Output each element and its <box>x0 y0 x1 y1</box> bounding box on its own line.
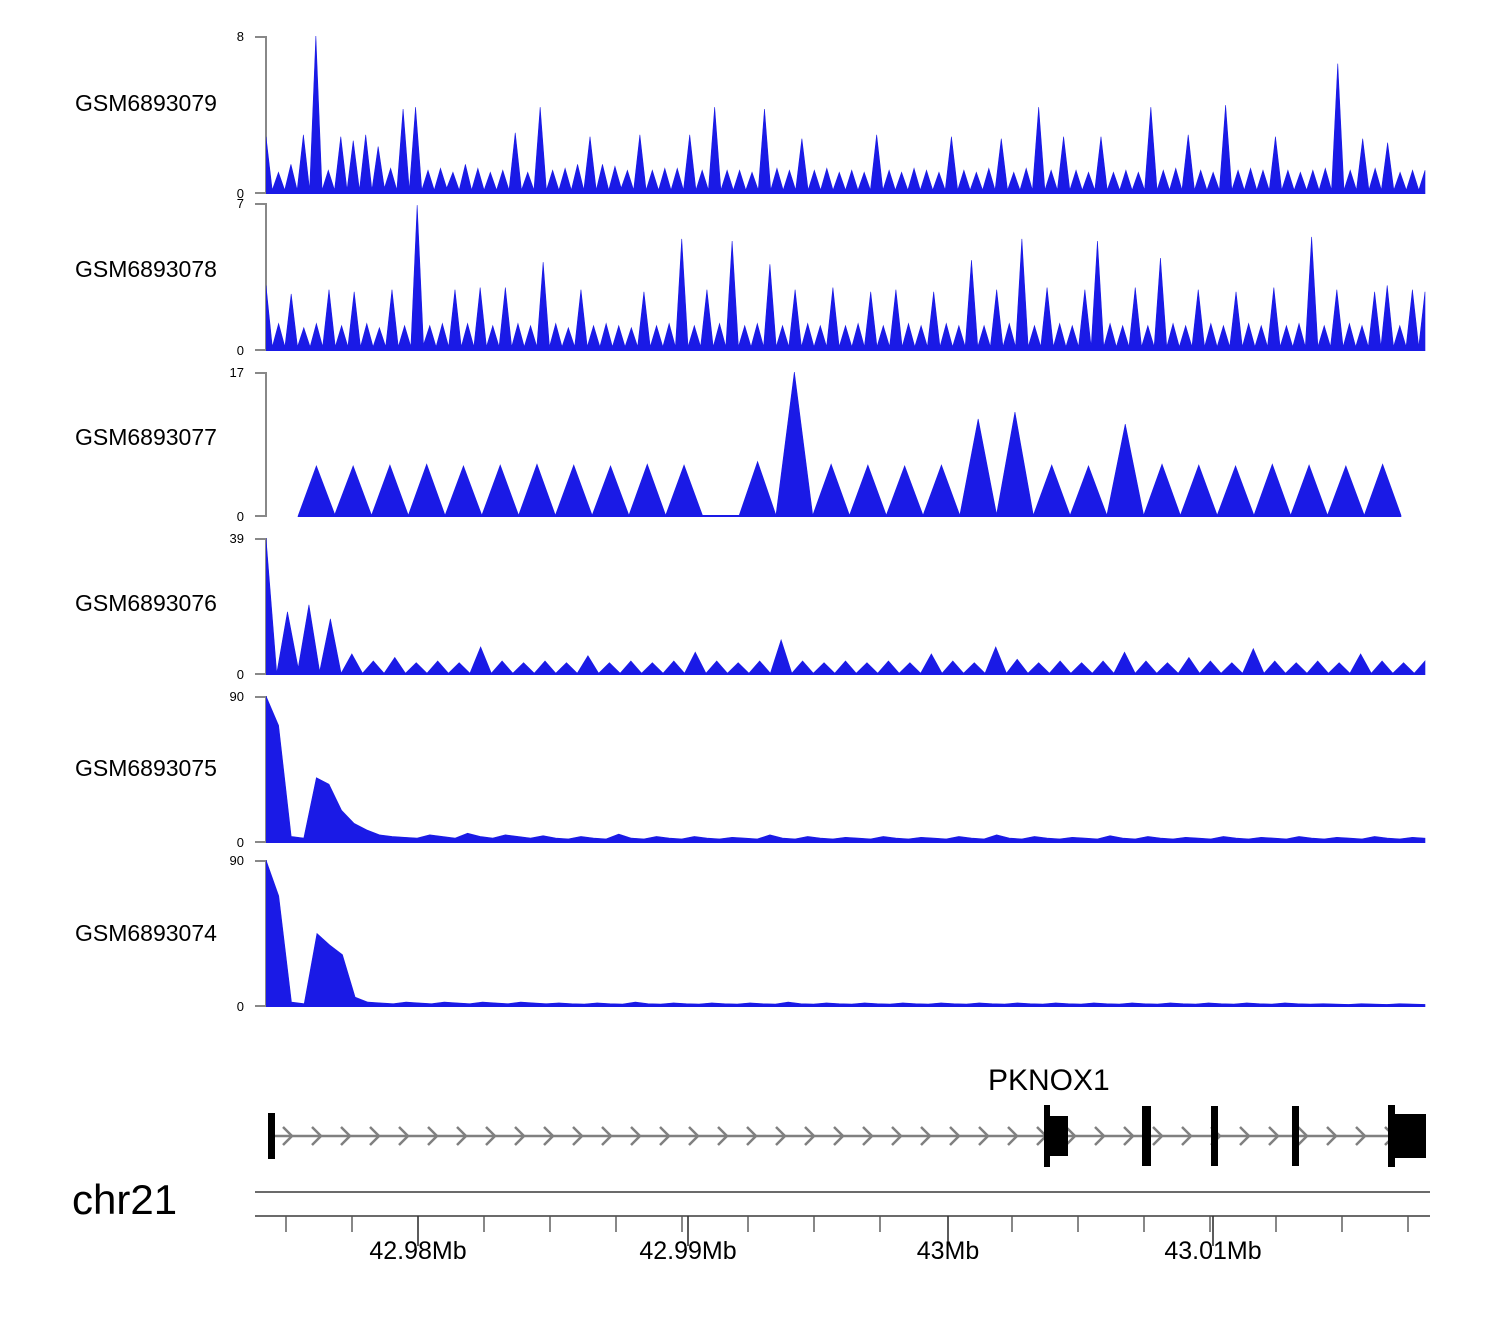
gene-exon <box>1388 1105 1395 1167</box>
coverage-plot-gsm6893076 <box>266 538 1426 675</box>
y-axis-max-value: 90 <box>230 854 244 867</box>
track-label-gsm6893078: GSM6893078 <box>75 256 217 283</box>
gene-name-label: PKNOX1 <box>988 1064 1110 1098</box>
gene-exon <box>1142 1106 1151 1166</box>
y-axis-min-value: 0 <box>237 344 244 357</box>
genome-browser: GSM689307980GSM689307870GSM6893077170GSM… <box>0 0 1500 1320</box>
y-axis: 80 <box>248 36 266 194</box>
y-axis-min-value: 0 <box>237 836 244 849</box>
track-label-gsm6893075: GSM6893075 <box>75 755 217 782</box>
gene-exon <box>1292 1106 1299 1166</box>
ruler-tick-label: 42.98Mb <box>369 1237 466 1266</box>
y-axis-min-value: 0 <box>237 510 244 523</box>
gene-exon <box>1211 1106 1218 1166</box>
gene-exon <box>1044 1105 1050 1167</box>
gene-exon <box>268 1113 275 1159</box>
y-axis-max-value: 90 <box>230 690 244 703</box>
coverage-plot-gsm6893079 <box>266 36 1426 194</box>
chromosome-label: chr21 <box>72 1176 177 1224</box>
track-label-gsm6893079: GSM6893079 <box>75 90 217 117</box>
coverage-plot-gsm6893077 <box>266 372 1426 517</box>
track-label-gsm6893076: GSM6893076 <box>75 590 217 617</box>
coverage-plot-gsm6893078 <box>266 203 1426 351</box>
ruler-tick-label: 43Mb <box>917 1237 980 1266</box>
y-axis-min-value: 0 <box>237 1000 244 1013</box>
ruler-tick-label: 43.01Mb <box>1164 1237 1261 1266</box>
y-axis-min-value: 0 <box>237 668 244 681</box>
coverage-plot-gsm6893075 <box>266 696 1426 843</box>
gene-model-svg <box>255 1098 1500 1174</box>
y-axis: 900 <box>248 696 266 843</box>
y-axis: 170 <box>248 372 266 517</box>
y-axis: 900 <box>248 860 266 1007</box>
y-axis: 70 <box>248 203 266 351</box>
y-axis-max-value: 17 <box>230 366 244 379</box>
track-label-gsm6893074: GSM6893074 <box>75 920 217 947</box>
y-axis-max-value: 39 <box>230 532 244 545</box>
y-axis-max-value: 8 <box>237 30 244 43</box>
y-axis: 390 <box>248 538 266 675</box>
y-axis-max-value: 7 <box>237 197 244 210</box>
ruler-tick-label: 42.99Mb <box>639 1237 736 1266</box>
gene-exon <box>1390 1114 1426 1158</box>
coverage-plot-gsm6893074 <box>266 860 1426 1007</box>
track-label-gsm6893077: GSM6893077 <box>75 424 217 451</box>
genomic-ruler: 42.98Mb42.99Mb43Mb43.01Mb <box>255 1185 1434 1310</box>
